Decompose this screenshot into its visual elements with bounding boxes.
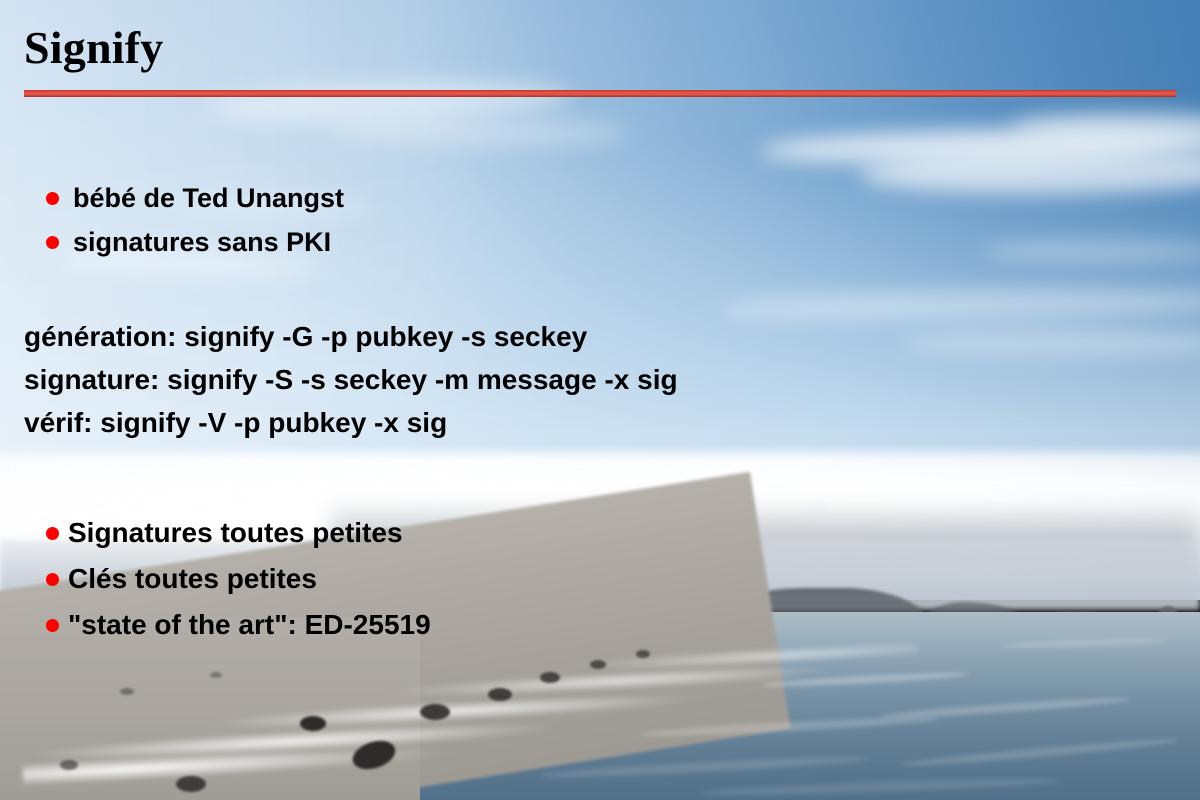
command-line-verification: vérif: signify -V -p pubkey -x sig — [24, 406, 678, 449]
list-item: Clés toutes petites — [46, 556, 431, 602]
list-item-label: Signatures toutes petites — [68, 517, 403, 549]
list-item: "state of the art": ED-25519 — [46, 602, 431, 648]
title-underline-rule — [24, 90, 1176, 97]
slide-content: Signify bébé de Ted Unangst signatures s… — [0, 0, 1200, 800]
list-item: bébé de Ted Unangst — [46, 176, 344, 220]
presentation-slide: Signify bébé de Ted Unangst signatures s… — [0, 0, 1200, 800]
bullet-dot-icon — [46, 619, 59, 632]
list-item-label: Clés toutes petites — [68, 563, 317, 595]
bullet-dot-icon — [46, 527, 59, 540]
command-line-generation: génération: signify -G -p pubkey -s seck… — [24, 320, 678, 363]
bullet-list-bottom: Signatures toutes petites Clés toutes pe… — [46, 510, 431, 648]
list-item-label: bébé de Ted Unangst — [73, 183, 344, 214]
list-item-label: "state of the art": ED-25519 — [68, 609, 431, 641]
bullet-dot-icon — [46, 236, 59, 249]
list-item: signatures sans PKI — [46, 220, 344, 264]
list-item-label: signatures sans PKI — [73, 227, 331, 258]
bullet-list-top: bébé de Ted Unangst signatures sans PKI — [46, 176, 344, 264]
command-list: génération: signify -G -p pubkey -s seck… — [24, 320, 678, 449]
slide-title: Signify — [24, 24, 163, 72]
command-line-signature: signature: signify -S -s seckey -m messa… — [24, 363, 678, 406]
bullet-dot-icon — [46, 573, 59, 586]
list-item: Signatures toutes petites — [46, 510, 431, 556]
bullet-dot-icon — [46, 192, 59, 205]
